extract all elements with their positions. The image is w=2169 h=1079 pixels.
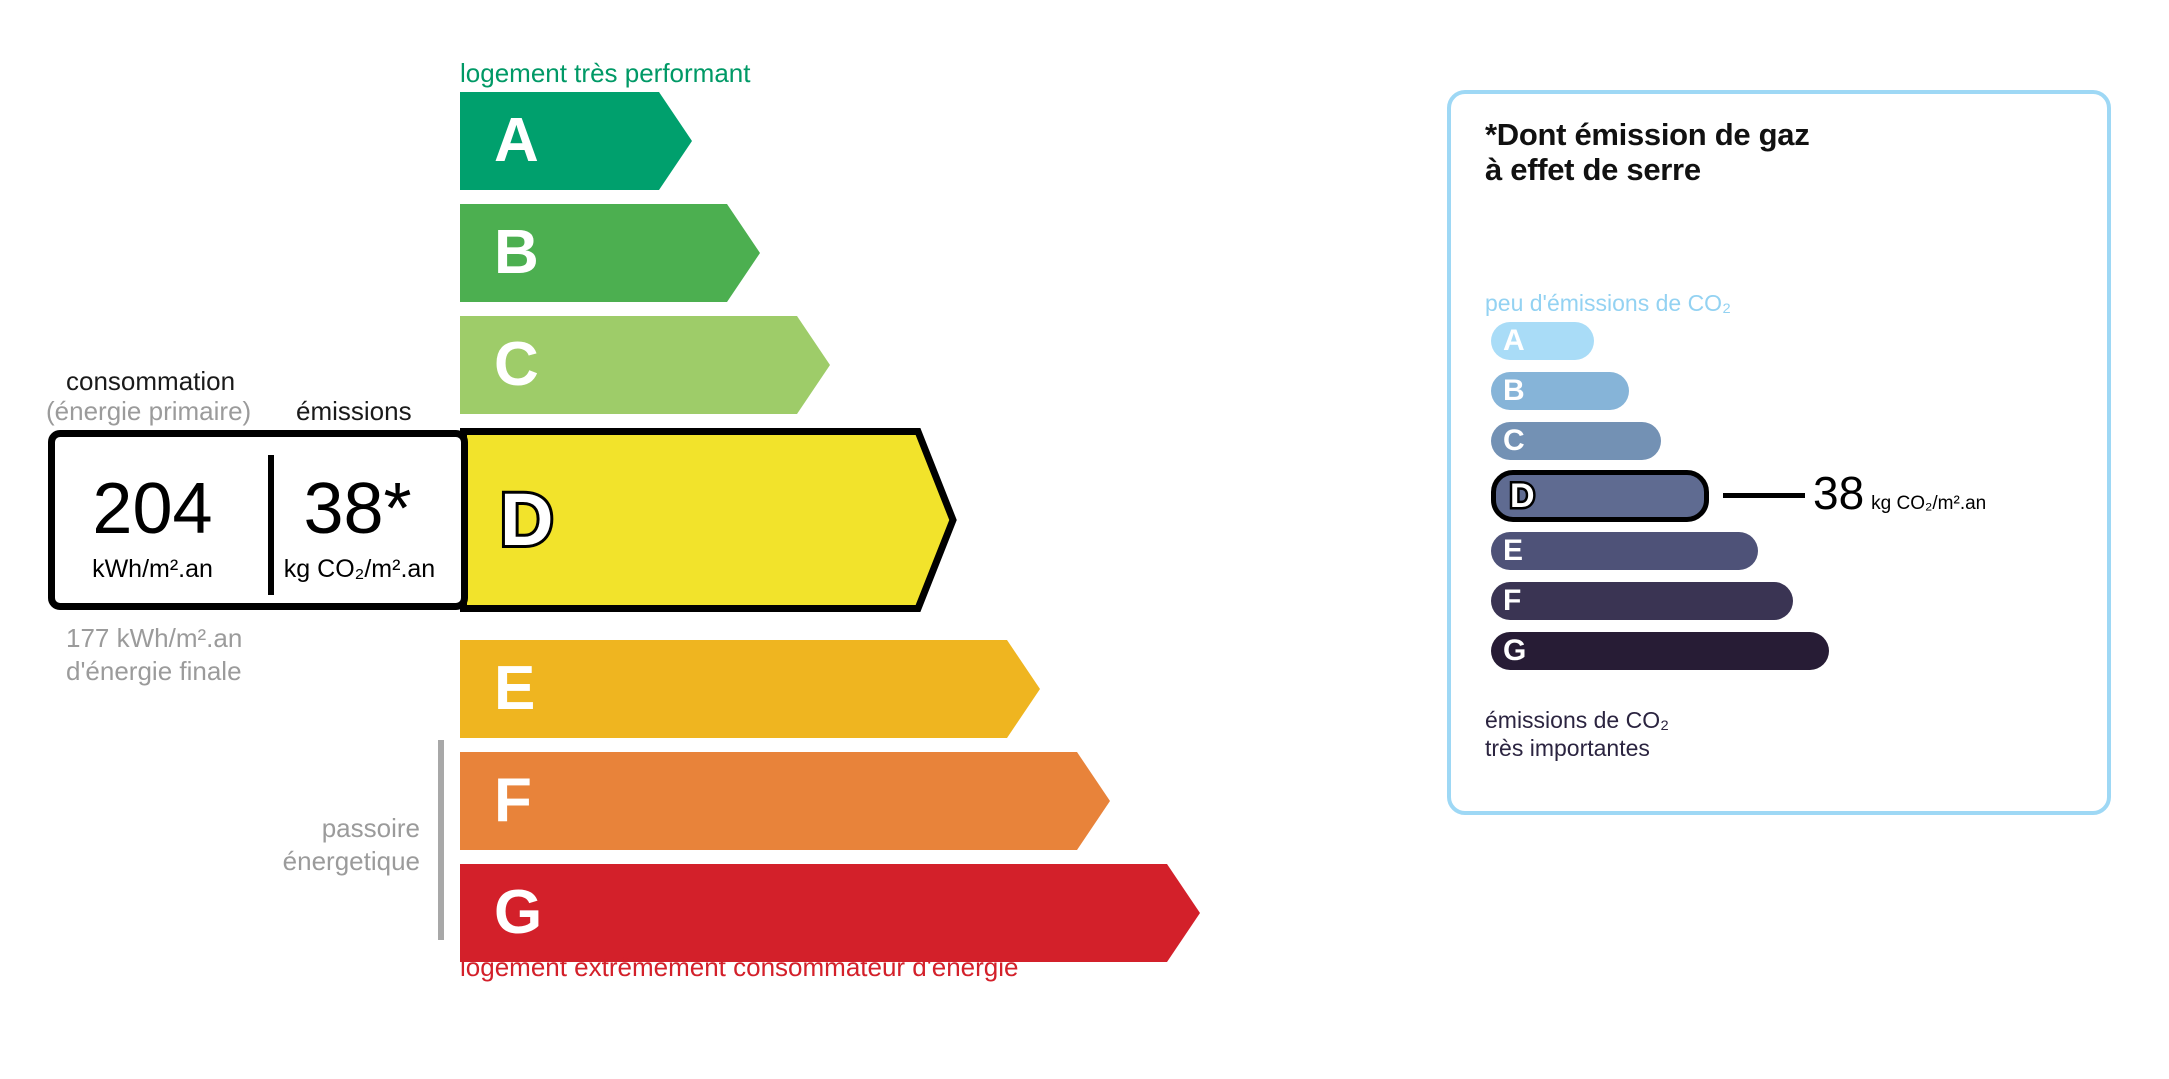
final-energy-line1: 177 kWh/m².an bbox=[66, 623, 242, 653]
ges-title-line2: à effet de serre bbox=[1485, 152, 1701, 187]
co2-bar-a-letter: A bbox=[1503, 326, 1525, 356]
co2-callout-unit: kg CO₂/m².an bbox=[1871, 493, 1986, 514]
co2-bar-a: A bbox=[1491, 322, 1594, 360]
co2-bar-f: F bbox=[1491, 582, 1793, 620]
passoire-label-line2: énergetique bbox=[283, 846, 420, 876]
passoire-label: passoire énergetique bbox=[180, 812, 420, 877]
co2-bar-c: C bbox=[1491, 422, 1661, 460]
energy-top-caption: logement très performant bbox=[460, 58, 750, 89]
ges-top-caption: peu d'émissions de CO₂ bbox=[1485, 290, 1731, 317]
energy-band-g: G bbox=[460, 864, 1200, 962]
value-box: 204 kWh/m².an 38* kg CO₂/m².an bbox=[48, 430, 468, 610]
label-emissions: émissions bbox=[296, 396, 412, 427]
ges-title-line1: *Dont émission de gaz bbox=[1485, 117, 1809, 152]
ges-bottom-caption-line1: émissions de CO₂ bbox=[1485, 707, 1669, 733]
ges-bottom-caption: émissions de CO₂ très importantes bbox=[1485, 706, 1669, 762]
co2-callout-leader-line bbox=[1723, 493, 1805, 498]
co2-bar-e-letter: E bbox=[1503, 536, 1523, 566]
energy-band-b: B bbox=[460, 204, 760, 302]
dpe-diagram: logement très performant A B C bbox=[0, 0, 2169, 1079]
passoire-label-line1: passoire bbox=[322, 813, 420, 843]
ges-bottom-caption-line2: très importantes bbox=[1485, 735, 1650, 761]
consumption-value: 204 bbox=[55, 473, 268, 545]
co2-callout: 38kg CO₂/m².an bbox=[1813, 470, 1986, 516]
energy-band-d: D bbox=[460, 428, 960, 612]
label-energie-primaire: (énergie primaire) bbox=[46, 396, 251, 427]
co2-bar-d-letter: D bbox=[1510, 479, 1535, 513]
energy-bottom-caption: logement extrêmement consommateur d'éner… bbox=[460, 952, 1018, 983]
energy-scale-chart: logement très performant A B C bbox=[0, 0, 1400, 1079]
co2-bar-c-letter: C bbox=[1503, 426, 1525, 456]
co2-bar-b: B bbox=[1491, 372, 1629, 410]
emission-cell: 38* kg CO₂/m².an bbox=[274, 437, 461, 603]
emission-value: 38* bbox=[274, 473, 461, 545]
energy-band-e: E bbox=[460, 640, 1040, 738]
passoire-marker-bar bbox=[438, 740, 444, 940]
label-consommation: consommation bbox=[66, 366, 235, 397]
co2-bar-b-letter: B bbox=[1503, 376, 1525, 406]
consumption-cell: 204 kWh/m².an bbox=[55, 437, 268, 603]
energy-band-c: C bbox=[460, 316, 830, 414]
co2-bar-e: E bbox=[1491, 532, 1758, 570]
final-energy-label: 177 kWh/m².an d'énergie finale bbox=[66, 622, 242, 687]
ges-panel: *Dont émission de gaz à effet de serre p… bbox=[1447, 90, 2111, 815]
co2-bar-g-letter: G bbox=[1503, 636, 1526, 666]
final-energy-line2: d'énergie finale bbox=[66, 656, 242, 686]
consumption-unit: kWh/m².an bbox=[55, 555, 268, 584]
co2-bar-d: D bbox=[1491, 470, 1709, 522]
co2-callout-value: 38 bbox=[1813, 467, 1864, 519]
co2-bar-f-letter: F bbox=[1503, 586, 1521, 616]
co2-bar-g: G bbox=[1491, 632, 1829, 670]
energy-band-f: F bbox=[460, 752, 1110, 850]
ges-panel-title: *Dont émission de gaz à effet de serre bbox=[1485, 118, 1809, 187]
energy-band-a: A bbox=[460, 92, 692, 190]
emission-unit: kg CO₂/m².an bbox=[274, 555, 461, 584]
